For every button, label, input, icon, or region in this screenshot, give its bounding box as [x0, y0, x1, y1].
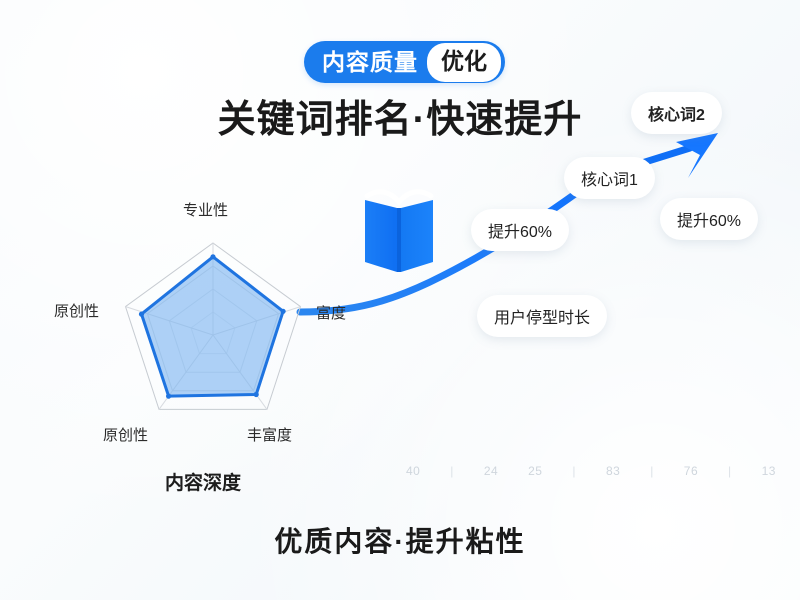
tick-mark: | — [450, 465, 454, 477]
pill-boost-left: 提升60% — [471, 209, 569, 251]
radar-axis-label-bottom-left: 原创性 — [103, 424, 148, 445]
radar-axis-label-right: 富度 — [316, 302, 346, 323]
badge-chip-label: 优化 — [427, 43, 501, 82]
tick-value: 76 — [684, 465, 698, 477]
pill-dwell-time: 用户停型时长 — [477, 295, 607, 337]
tick-value: 25 — [528, 465, 542, 477]
tick-mark: | — [728, 465, 732, 477]
tick-mark: | — [572, 465, 576, 477]
radar-axis-label-bottom-right: 丰富度 — [247, 424, 292, 445]
tick-value: 24 — [484, 465, 498, 477]
footer-caption: 优质内容·提升粘性 — [0, 520, 800, 560]
radar-axis-label-top: 专业性 — [183, 199, 228, 220]
pill-keyword-2: 核心词2 — [631, 92, 722, 134]
pill-boost-right: 提升60% — [660, 198, 758, 240]
header-badge: 内容质量 优化 — [304, 41, 505, 83]
faint-axis-ticks: 40 | 24 25 | 83 | 76 | 13 — [406, 465, 776, 477]
badge-main-label: 内容质量 — [322, 51, 427, 74]
tick-mark: | — [650, 465, 654, 477]
radar-axis-label-left: 原创性 — [54, 300, 99, 321]
tick-value: 13 — [762, 465, 776, 477]
tick-value: 40 — [406, 465, 420, 477]
section-label-content-depth: 内容深度 — [165, 468, 241, 495]
radar-chart — [113, 235, 313, 435]
pill-keyword-1: 核心词1 — [564, 157, 655, 199]
poster-canvas: 内容质量 优化 关键词排名·快速提升 — [0, 0, 800, 600]
tick-value: 83 — [606, 465, 620, 477]
open-book-icon — [361, 186, 437, 280]
